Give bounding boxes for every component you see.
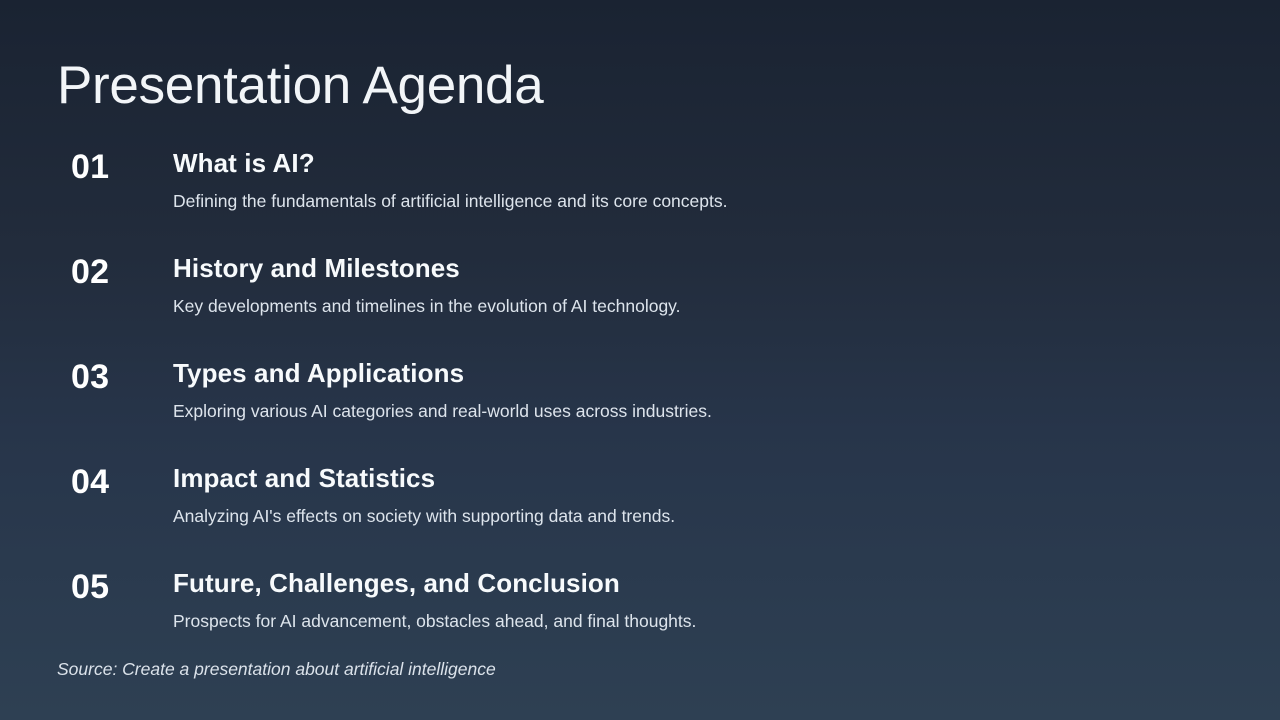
agenda-list: 01 What is AI? Defining the fundamentals…	[0, 148, 1280, 673]
agenda-item-heading: What is AI?	[173, 148, 1240, 178]
agenda-item-number: 03	[71, 360, 109, 394]
agenda-item-body: What is AI? Defining the fundamentals of…	[173, 148, 1240, 212]
agenda-item-number: 05	[71, 570, 109, 604]
agenda-item-heading: History and Milestones	[173, 253, 1240, 283]
agenda-item-heading: Future, Challenges, and Conclusion	[173, 568, 1240, 598]
agenda-item-body: Impact and Statistics Analyzing AI's eff…	[173, 463, 1240, 527]
agenda-item-number: 04	[71, 465, 109, 499]
agenda-item-description: Exploring various AI categories and real…	[173, 401, 1240, 422]
agenda-item-description: Key developments and timelines in the ev…	[173, 296, 1240, 317]
agenda-item-number: 01	[71, 150, 109, 184]
agenda-item-body: History and Milestones Key developments …	[173, 253, 1240, 317]
slide-source-footer: Source: Create a presentation about arti…	[57, 659, 496, 680]
agenda-item-description: Analyzing AI's effects on society with s…	[173, 506, 1240, 527]
agenda-item-heading: Types and Applications	[173, 358, 1240, 388]
agenda-item-02[interactable]: 02 History and Milestones Key developmen…	[0, 253, 1280, 358]
agenda-item-number: 02	[71, 255, 109, 289]
page-title: Presentation Agenda	[57, 56, 543, 115]
agenda-item-04[interactable]: 04 Impact and Statistics Analyzing AI's …	[0, 463, 1280, 568]
agenda-item-body: Future, Challenges, and Conclusion Prosp…	[173, 568, 1240, 632]
agenda-item-body: Types and Applications Exploring various…	[173, 358, 1240, 422]
agenda-item-03[interactable]: 03 Types and Applications Exploring vari…	[0, 358, 1280, 463]
presentation-slide: Presentation Agenda 01 What is AI? Defin…	[0, 0, 1280, 720]
agenda-item-heading: Impact and Statistics	[173, 463, 1240, 493]
agenda-item-description: Defining the fundamentals of artificial …	[173, 191, 1240, 212]
agenda-item-01[interactable]: 01 What is AI? Defining the fundamentals…	[0, 148, 1280, 253]
agenda-item-description: Prospects for AI advancement, obstacles …	[173, 611, 1240, 632]
agenda-item-05[interactable]: 05 Future, Challenges, and Conclusion Pr…	[0, 568, 1280, 673]
